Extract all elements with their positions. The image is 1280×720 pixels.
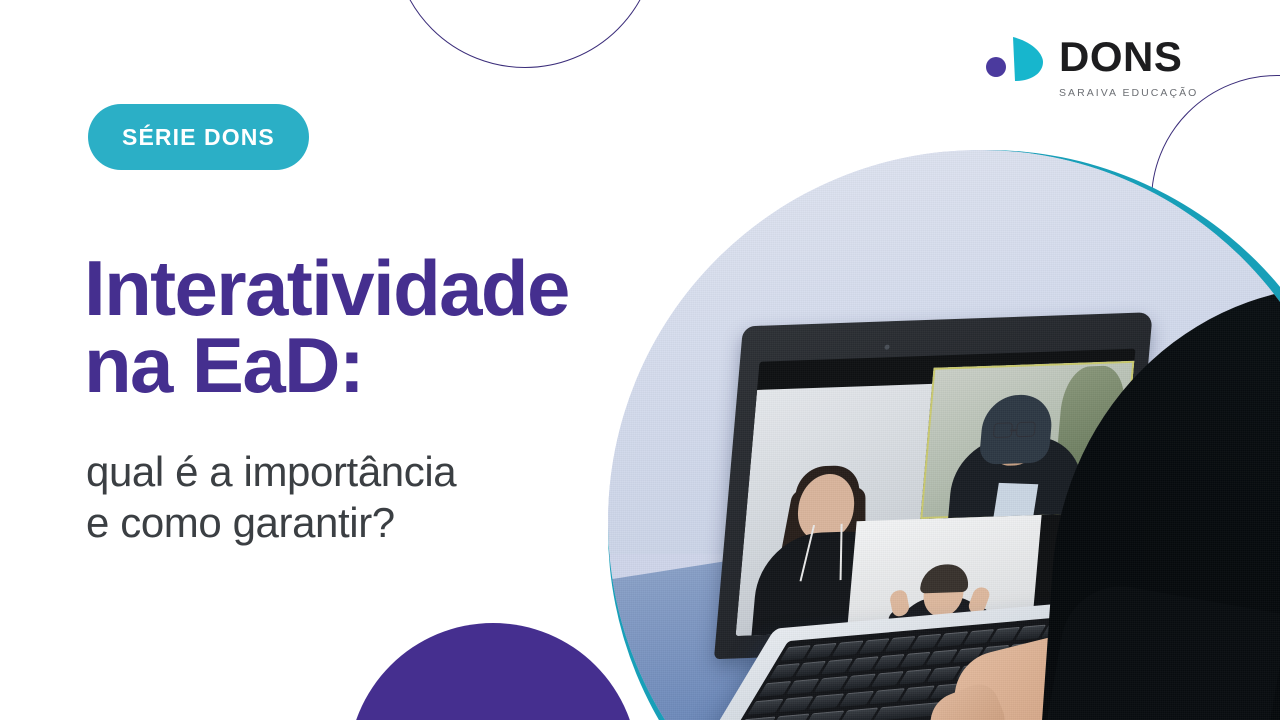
series-badge-label: SÉRIE DONS [122,124,275,151]
logo-text-block: DONS SARAIVA EDUCAÇÃO [1059,34,1198,99]
logo-tagline: SARAIVA EDUCAÇÃO [1059,87,1198,99]
slide-canvas: SÉRIE DONS Interatividade na EaD: qual é… [0,0,1280,720]
page-title: Interatividade na EaD: [84,250,784,403]
page-subtitle: qual é a importância e como garantir? [86,446,706,548]
photo-disc-wrapper [608,150,1280,720]
logo-wordmark: DONS [1059,36,1198,78]
decor-bottom-solid-circle [348,623,638,720]
brand-logo: DONS SARAIVA EDUCAÇÃO [985,34,1198,99]
series-badge: SÉRIE DONS [88,104,309,170]
photo-scene [608,150,1280,720]
hero-photo [608,150,1280,720]
dons-logo-mark-icon [985,34,1047,84]
decor-top-outline-circle [393,0,657,68]
